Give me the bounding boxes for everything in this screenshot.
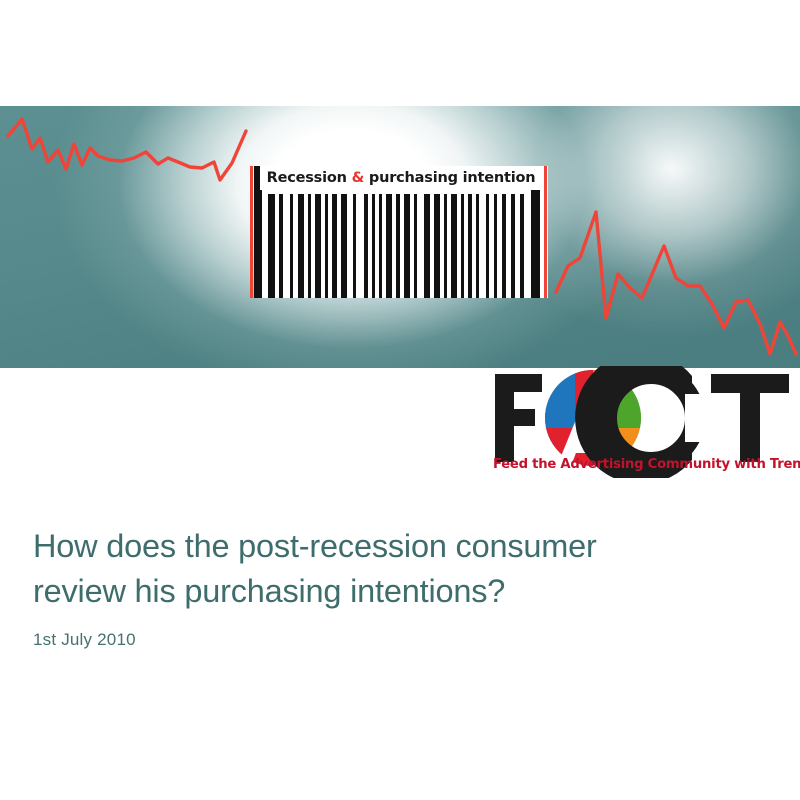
trend-line-left <box>8 119 246 180</box>
title-block: How does the post-recession consumer rev… <box>33 524 773 614</box>
barcode-label: Recession & purchasing intention <box>260 166 542 190</box>
fact-tagline: Feed the Advertising Community with Tren… <box>493 457 793 472</box>
barcode-label-text: Recession & purchasing intention <box>267 170 536 186</box>
barcode-guard-red-left <box>250 166 253 298</box>
page-title: How does the post-recession consumer rev… <box>33 524 773 614</box>
barcode-graphic: Recession & purchasing intention <box>246 166 556 298</box>
barcode-label-ampersand: & <box>352 170 364 186</box>
fact-letter-f <box>495 374 542 462</box>
page-date: 1st July 2010 <box>33 630 136 650</box>
barcode-guard-red-right <box>544 166 547 298</box>
trend-line-right <box>556 212 796 354</box>
fact-letter-t <box>711 374 789 462</box>
